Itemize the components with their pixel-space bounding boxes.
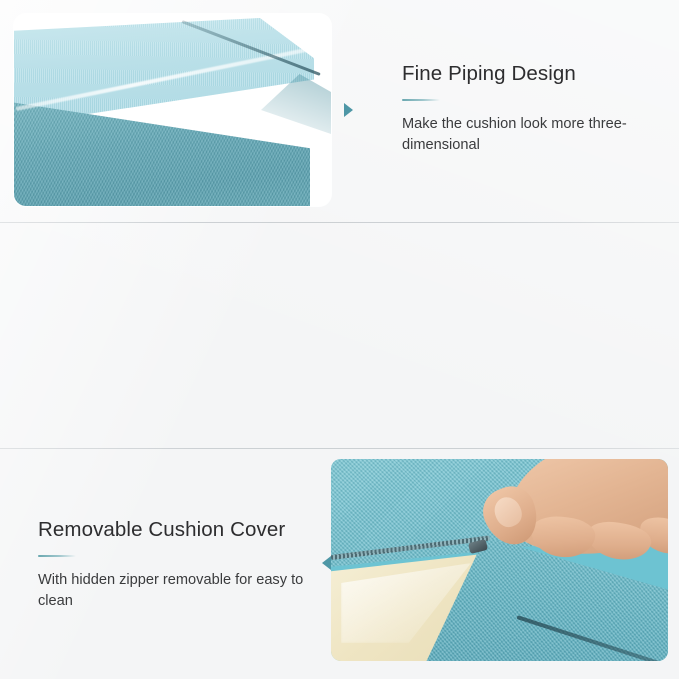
- feature-heading: Fine Piping Design: [402, 62, 657, 87]
- feature-panel-removable-cushion-cover: Removable Cushion Cover With hidden zipp…: [0, 223, 679, 448]
- pointer-arrow-right-icon: [344, 103, 353, 117]
- feature-panel-fine-piping-design: Fine Piping Design Make the cushion look…: [0, 0, 679, 222]
- feature-text-fine-piping-design: Fine Piping Design Make the cushion look…: [402, 62, 657, 157]
- cushion-front-face: [14, 102, 310, 206]
- cushion-corner-photo: [14, 14, 331, 206]
- product-feature-infographic: Fine Piping Design Make the cushion look…: [0, 0, 679, 679]
- feature-body: Make the cushion look more three-dimensi…: [402, 114, 657, 157]
- feature-panel-olefin-fabric: Olefin Fabric Sitting for a long time wi…: [0, 449, 679, 679]
- accent-underline: [402, 99, 440, 102]
- cushion-illustration: [14, 14, 331, 206]
